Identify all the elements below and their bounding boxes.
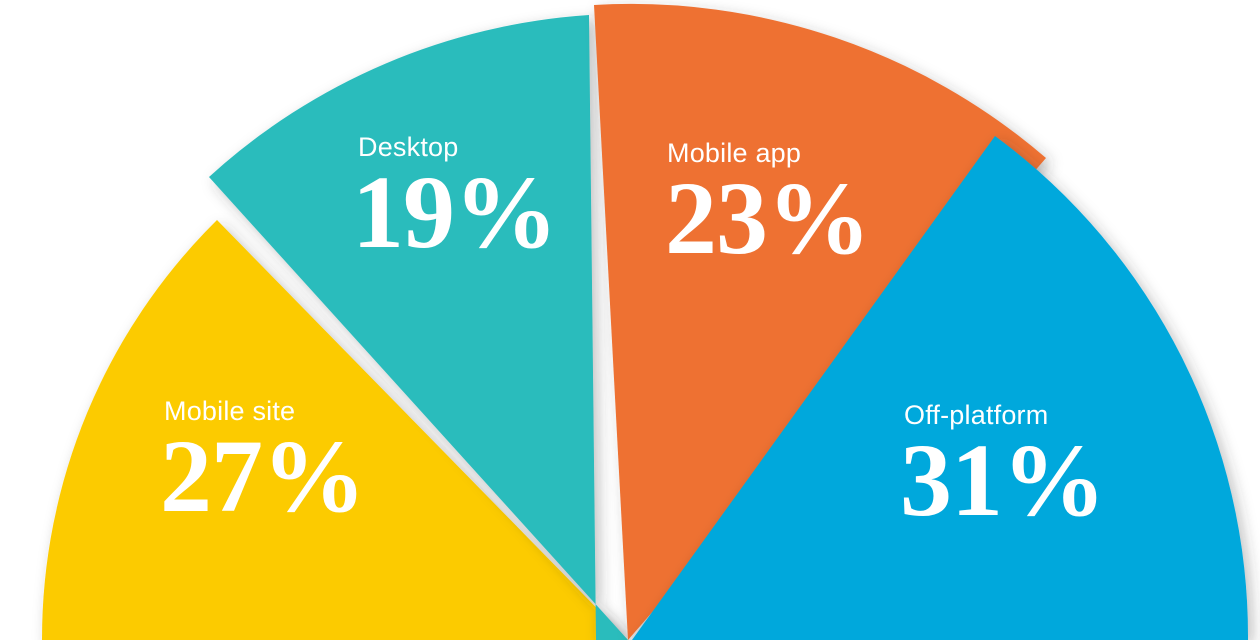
pie-chart: Mobile site 27% Desktop 19% Mobile app 2… <box>0 0 1260 640</box>
pie-chart-svg <box>0 0 1260 640</box>
